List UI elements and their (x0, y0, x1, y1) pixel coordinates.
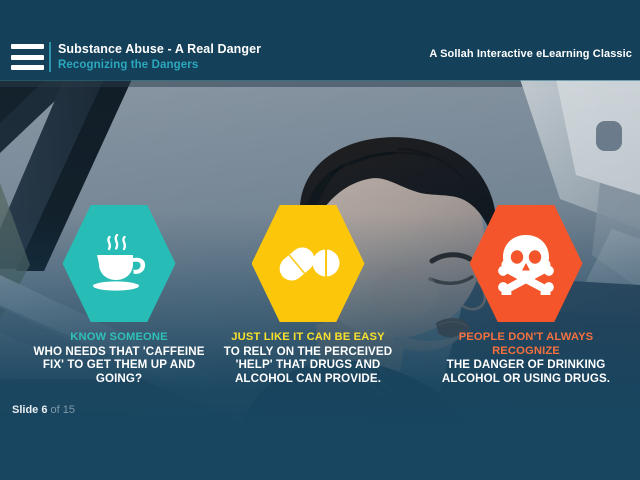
caption-line-2: ALCOHOL OR USING DRUGS. (421, 372, 631, 386)
hex-card-caffeine: KNOW SOMEONE WHO NEEDS THAT 'CAFFEINE FI… (14, 205, 224, 385)
hexagon-danger[interactable] (470, 205, 583, 322)
pills-icon (276, 236, 340, 292)
caption-pills: JUST LIKE IT CAN BE EASY TO RELY ON THE … (203, 331, 413, 385)
hamburger-menu-icon[interactable] (11, 44, 44, 70)
hexagon-pills[interactable] (252, 205, 365, 322)
brand-label: A Sollah Interactive eLearning Classic (429, 48, 632, 60)
caption-line-1: WHO NEEDS THAT 'CAFFEINE (14, 345, 224, 359)
caption-line-1: THE DANGER OF DRINKING (421, 358, 631, 372)
hex-card-danger: PEOPLE DON'T ALWAYS RECOGNIZE THE DANGER… (421, 205, 631, 385)
coffee-cup-icon (88, 234, 150, 294)
caption-line-3: GOING? (14, 372, 224, 386)
caption-danger: PEOPLE DON'T ALWAYS RECOGNIZE THE DANGER… (421, 331, 631, 385)
hamburger-bar-3 (11, 65, 44, 70)
slide-header: Substance Abuse - A Real Danger Recogniz… (0, 0, 640, 80)
hexagon-caffeine[interactable] (63, 205, 176, 322)
caption-highlight: KNOW SOMEONE (14, 331, 224, 345)
caption-line-3: ALCOHOL CAN PROVIDE. (203, 372, 413, 386)
hamburger-bar-1 (11, 44, 44, 49)
slide-counter-total: of 15 (51, 404, 75, 416)
slide-counter-current: Slide 6 (12, 404, 47, 416)
skull-crossbones-icon (495, 233, 557, 295)
slide-counter: Slide 6 of 15 (12, 404, 75, 416)
caption-line-2: 'HELP' THAT DRUGS AND (203, 358, 413, 372)
hamburger-bar-2 (11, 55, 44, 60)
caption-line-2: FIX' TO GET THEM UP AND (14, 358, 224, 372)
bottom-band (0, 430, 640, 480)
hex-card-pills: JUST LIKE IT CAN BE EASY TO RELY ON THE … (203, 205, 413, 385)
lesson-subtitle: Recognizing the Dangers (58, 59, 198, 71)
caption-highlight: JUST LIKE IT CAN BE EASY (203, 331, 413, 345)
caption-highlight-line-1: PEOPLE DON'T ALWAYS (421, 331, 631, 345)
course-title: Substance Abuse - A Real Danger (58, 42, 261, 56)
header-divider (49, 42, 51, 72)
caption-highlight-line-2: RECOGNIZE (421, 345, 631, 359)
caption-caffeine: KNOW SOMEONE WHO NEEDS THAT 'CAFFEINE FI… (14, 331, 224, 385)
caption-line-1: TO RELY ON THE PERCEIVED (203, 345, 413, 359)
slide-stage: Substance Abuse - A Real Danger Recogniz… (0, 0, 640, 480)
